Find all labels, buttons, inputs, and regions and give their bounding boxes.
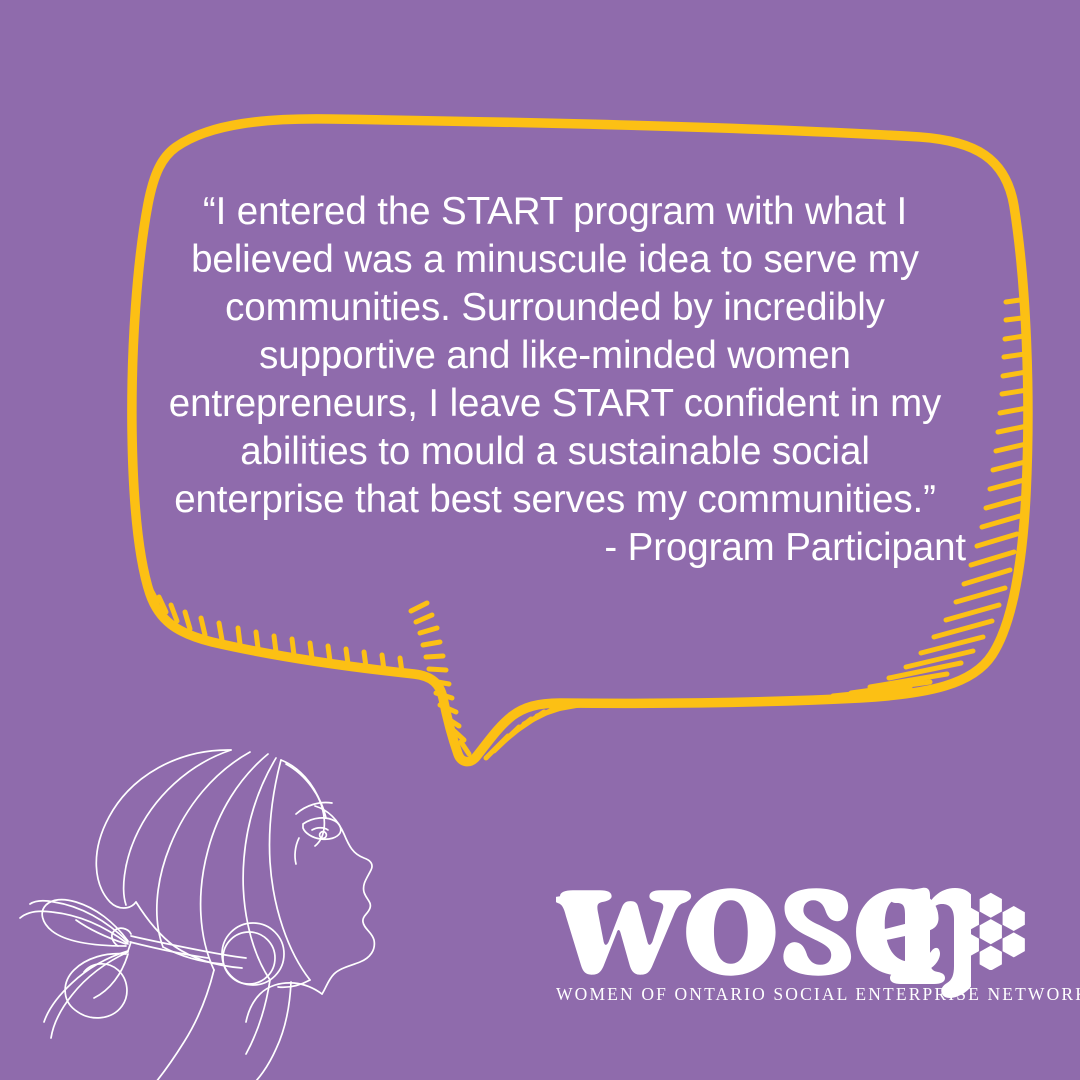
bubble-hatch-bottom-right bbox=[486, 682, 930, 758]
quote-line: enterprise that best serves my communiti… bbox=[140, 476, 970, 524]
testimonial-graphic: “I entered the START program with what I… bbox=[0, 0, 1080, 1080]
quote-text-block: “I entered the START program with what I… bbox=[140, 188, 970, 572]
quote-line: supportive and like-minded women bbox=[140, 332, 970, 380]
quote-attribution: - Program Participant bbox=[140, 524, 970, 572]
bubble-hatch-bottom-left bbox=[150, 588, 402, 672]
quote-line: believed was a minuscule idea to serve m… bbox=[140, 236, 970, 284]
quote-line: communities. Surrounded by incredibly bbox=[140, 284, 970, 332]
bubble-hatch-tail bbox=[411, 603, 469, 754]
wosen-logo: wosen bbox=[556, 878, 1026, 1028]
quote-line: abilities to mould a sustainable social bbox=[140, 428, 970, 476]
wosen-wordmark-descender bbox=[889, 878, 971, 1006]
quote-line: “I entered the START program with what I bbox=[140, 188, 970, 236]
woman-profile-line-art bbox=[18, 742, 418, 1080]
quote-line: entrepreneurs, I leave START confident i… bbox=[140, 380, 970, 428]
